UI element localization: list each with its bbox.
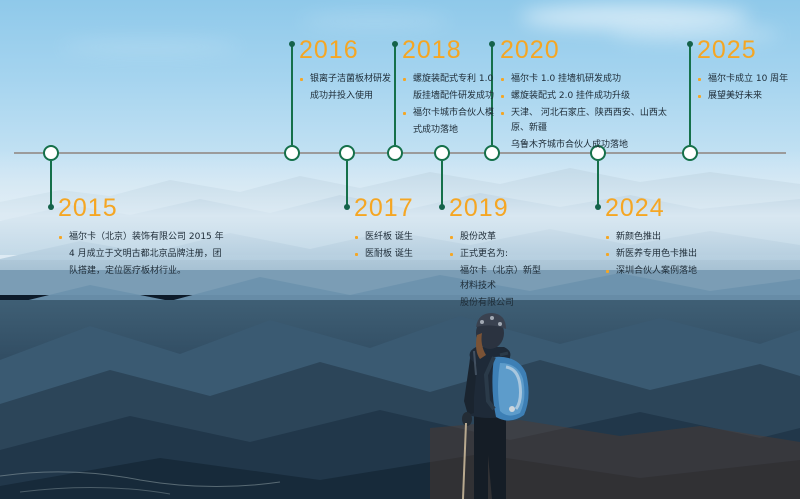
hiker-with-blue-backpack <box>430 305 550 499</box>
list-item: 成功并投入使用 <box>299 89 391 104</box>
timeline-entry-2024: 2024 新颜色推出 新医养专用色卡推出 深圳合伙人案例落地 <box>605 196 725 281</box>
list-item: 福尔卡城市合伙人模 <box>402 106 494 121</box>
entry-year-2015: 2015 <box>58 196 233 221</box>
list-item: 医耐板 诞生 <box>354 247 440 262</box>
entry-year-2019: 2019 <box>449 196 547 221</box>
entry-bullets-2015: 福尔卡（北京）装饰有限公司 2015 年 4 月成立于文明古都北京品牌注册，团 … <box>58 230 233 279</box>
bullet-dot <box>403 78 406 81</box>
list-item: 式成功落地 <box>402 123 494 138</box>
bullet-dot <box>450 253 453 256</box>
stem-cap <box>48 204 54 210</box>
bullet-dot <box>450 236 453 239</box>
bullet-dot <box>606 270 609 273</box>
list-item: 福尔卡 1.0 挂墙机研发成功 <box>500 72 680 87</box>
entry-year-2016: 2016 <box>299 38 391 63</box>
list-item: 银离子洁菌板材研发 <box>299 72 391 87</box>
timeline-entry-2025: 2025 福尔卡成立 10 周年 展望美好未来 <box>697 38 797 106</box>
timeline-entry-2018: 2018 螺旋装配式专利 1.0 版挂墙配件研发成功 福尔卡城市合伙人模 式成功… <box>402 38 494 140</box>
bullet-dot <box>501 112 504 115</box>
timeline-stem-2025 <box>689 44 691 145</box>
list-item: 队搭建，定位医疗板材行业。 <box>58 264 233 279</box>
timeline-stem-2017 <box>346 161 348 207</box>
list-item: 乌鲁木齐城市合伙人成功落地 <box>500 138 680 153</box>
bullet-dot <box>501 78 504 81</box>
list-item: 福尔卡成立 10 周年 <box>697 72 797 87</box>
cloud <box>300 14 450 28</box>
timeline-entry-2017: 2017 医纤板 诞生 医耐板 诞生 <box>354 196 440 264</box>
bullet-dot <box>59 236 62 239</box>
timeline-node-2016[interactable] <box>284 145 300 161</box>
list-item: 展望美好未来 <box>697 89 797 104</box>
list-item: 版挂墙配件研发成功 <box>402 89 494 104</box>
timeline-entry-2019: 2019 股份改革 正式更名为: 福尔卡（北京）新型材料技术 股份有限公司 <box>449 196 547 313</box>
list-item: 福尔卡（北京）装饰有限公司 2015 年 <box>58 230 233 245</box>
entry-bullets-2016: 银离子洁菌板材研发 成功并投入使用 <box>299 72 391 104</box>
bullet-dot <box>501 95 504 98</box>
timeline-infographic: 2015 福尔卡（北京）装饰有限公司 2015 年 4 月成立于文明古都北京品牌… <box>0 0 800 499</box>
timeline-entry-2015: 2015 福尔卡（北京）装饰有限公司 2015 年 4 月成立于文明古都北京品牌… <box>58 196 233 281</box>
entry-year-2024: 2024 <box>605 196 725 221</box>
timeline-node-2025[interactable] <box>682 145 698 161</box>
stem-cap <box>595 204 601 210</box>
list-item: 天津、 河北石家庄、陕西西安、山西太原、新疆 <box>500 106 680 136</box>
bullet-dot <box>355 253 358 256</box>
list-item: 股份有限公司 <box>449 296 547 311</box>
bullet-dot <box>403 112 406 115</box>
timeline-stem-2015 <box>50 161 52 207</box>
timeline-stem-2024 <box>597 161 599 207</box>
list-item: 福尔卡（北京）新型材料技术 <box>449 264 547 294</box>
list-item: 螺旋装配式 2.0 挂件成功升级 <box>500 89 680 104</box>
stem-cap <box>392 41 398 47</box>
entry-bullets-2017: 医纤板 诞生 医耐板 诞生 <box>354 230 440 262</box>
timeline-node-2019[interactable] <box>434 145 450 161</box>
bullet-dot <box>698 78 701 81</box>
list-item: 螺旋装配式专利 1.0 <box>402 72 494 87</box>
list-item: 4 月成立于文明古都北京品牌注册，团 <box>58 247 233 262</box>
bullet-dot <box>698 95 701 98</box>
timeline-node-2018[interactable] <box>387 145 403 161</box>
foreground-mountain <box>0 300 800 499</box>
entry-year-2018: 2018 <box>402 38 494 63</box>
entry-bullets-2020: 福尔卡 1.0 挂墙机研发成功 螺旋装配式 2.0 挂件成功升级 天津、 河北石… <box>500 72 680 153</box>
bullet-dot <box>300 78 303 81</box>
bullet-dot <box>606 253 609 256</box>
timeline-stem-2016 <box>291 44 293 145</box>
stem-cap <box>344 204 350 210</box>
list-item: 正式更名为: <box>449 247 547 262</box>
timeline-node-2020[interactable] <box>484 145 500 161</box>
list-item: 新颜色推出 <box>605 230 725 245</box>
timeline-node-2017[interactable] <box>339 145 355 161</box>
timeline-entry-2016: 2016 银离子洁菌板材研发 成功并投入使用 <box>299 38 391 106</box>
entry-year-2020: 2020 <box>500 38 680 63</box>
timeline-entry-2020: 2020 福尔卡 1.0 挂墙机研发成功 螺旋装配式 2.0 挂件成功升级 天津… <box>500 38 680 155</box>
entry-year-2025: 2025 <box>697 38 797 63</box>
stem-cap <box>289 41 295 47</box>
cloud <box>60 40 240 54</box>
stem-cap <box>687 41 693 47</box>
timeline-node-2015[interactable] <box>43 145 59 161</box>
entry-bullets-2019: 股份改革 正式更名为: 福尔卡（北京）新型材料技术 股份有限公司 <box>449 230 547 311</box>
timeline-stem-2018 <box>394 44 396 145</box>
entry-year-2017: 2017 <box>354 196 440 221</box>
list-item: 股份改革 <box>449 230 547 245</box>
entry-bullets-2024: 新颜色推出 新医养专用色卡推出 深圳合伙人案例落地 <box>605 230 725 279</box>
entry-bullets-2025: 福尔卡成立 10 周年 展望美好未来 <box>697 72 797 104</box>
list-item: 新医养专用色卡推出 <box>605 247 725 262</box>
timeline-stem-2019 <box>441 161 443 207</box>
list-item: 医纤板 诞生 <box>354 230 440 245</box>
entry-bullets-2018: 螺旋装配式专利 1.0 版挂墙配件研发成功 福尔卡城市合伙人模 式成功落地 <box>402 72 494 138</box>
list-item: 深圳合伙人案例落地 <box>605 264 725 279</box>
bullet-dot <box>606 236 609 239</box>
bullet-dot <box>355 236 358 239</box>
